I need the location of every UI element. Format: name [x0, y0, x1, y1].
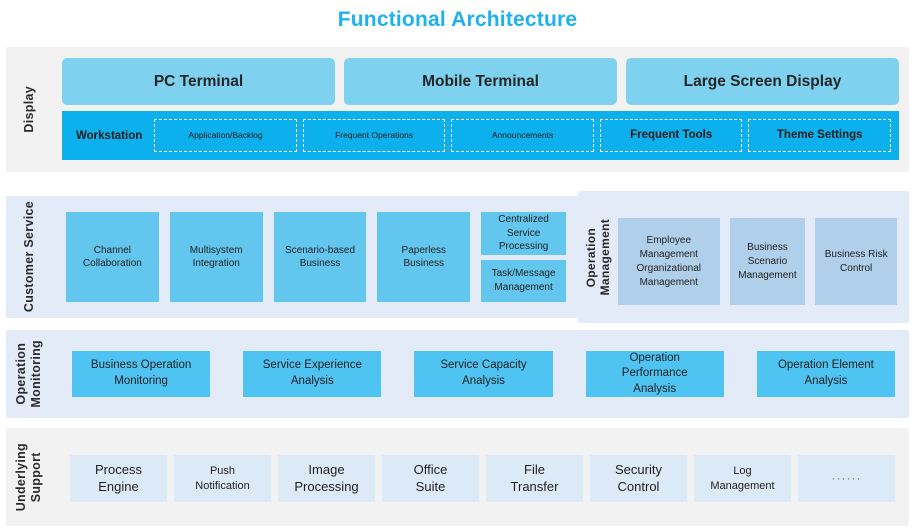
- functional-architecture-diagram: Functional Architecture Display PC Termi…: [0, 0, 915, 532]
- terminal-row: PC Terminal Mobile Terminal Large Screen…: [62, 58, 899, 105]
- layer-operation-monitoring-label-text: Operation Monitoring: [14, 340, 44, 408]
- workstation-title: Workstation: [70, 130, 148, 142]
- sup-box-image-processing[interactable]: Image Processing: [278, 455, 375, 502]
- layer-operation-management: Operation Management Employee Management…: [578, 191, 909, 323]
- layer-operation-management-label: Operation Management: [578, 191, 618, 323]
- layer-display-label: Display: [6, 47, 52, 172]
- sup-box-process-engine[interactable]: Process Engine: [70, 455, 167, 502]
- layer-underlying-support: Underlying Support Process Engine Push N…: [6, 428, 909, 526]
- layer-underlying-support-content: Process Engine Push Notification Image P…: [52, 428, 909, 526]
- terminal-large-screen[interactable]: Large Screen Display: [626, 58, 899, 105]
- cs-stacked-group: Centralized Service Processing Task/Mess…: [481, 212, 566, 302]
- terminal-mobile[interactable]: Mobile Terminal: [344, 58, 617, 105]
- terminal-large-screen-label: Large Screen Display: [684, 73, 842, 91]
- layer-display: Display PC Terminal Mobile Terminal Larg…: [6, 47, 909, 172]
- cs-box-paperless-business[interactable]: Paperless Business: [377, 212, 470, 302]
- om-box-business-scenario-management[interactable]: Business Scenario Management: [730, 218, 806, 305]
- cs-box-task-message-management[interactable]: Task/Message Management: [481, 260, 566, 303]
- cs-box-multisystem-integration[interactable]: Multisystem Integration: [170, 212, 263, 302]
- workstation-chip-frequent-tools[interactable]: Frequent Tools: [600, 119, 743, 152]
- cs-box-centralized-service-processing[interactable]: Centralized Service Processing: [481, 212, 566, 255]
- layer-operation-management-label-text: Operation Management: [584, 219, 612, 295]
- layer-display-label-text: Display: [22, 86, 37, 133]
- customer-service-row: Channel Collaboration Multisystem Integr…: [66, 212, 566, 302]
- sup-box-office-suite[interactable]: Office Suite: [382, 455, 479, 502]
- underlying-support-row: Process Engine Push Notification Image P…: [70, 455, 895, 502]
- sup-box-log-management[interactable]: Log Management: [694, 455, 791, 502]
- layer-underlying-support-label: Underlying Support: [6, 428, 52, 526]
- layer-operation-monitoring-label: Operation Monitoring: [6, 330, 52, 418]
- layer-customer-service-content: Channel Collaboration Multisystem Integr…: [52, 196, 578, 318]
- om-box-business-risk-control[interactable]: Business Risk Control: [815, 218, 897, 305]
- sup-box-more-ellipsis: ······: [798, 455, 895, 502]
- layer-operation-monitoring: Operation Monitoring Business Operation …: [6, 330, 909, 418]
- layer-underlying-support-label-text: Underlying Support: [14, 443, 44, 511]
- mon-box-service-capacity-analysis[interactable]: Service Capacity Analysis: [414, 351, 552, 397]
- mon-box-business-operation-monitoring[interactable]: Business Operation Monitoring: [72, 351, 210, 397]
- sup-box-push-notification[interactable]: Push Notification: [174, 455, 271, 502]
- sup-box-security-control[interactable]: Security Control: [590, 455, 687, 502]
- operation-monitoring-row: Business Operation Monitoring Service Ex…: [72, 351, 895, 397]
- layer-operation-monitoring-content: Business Operation Monitoring Service Ex…: [52, 330, 909, 418]
- workstation-chip-frequent-operations[interactable]: Frequent Operations: [303, 119, 446, 152]
- layer-customer-service-label-text: Customer Service: [22, 201, 37, 312]
- page-title: Functional Architecture: [0, 8, 915, 32]
- layer-customer-service-label: Customer Service: [6, 196, 52, 318]
- workstation-chip-theme-settings[interactable]: Theme Settings: [748, 119, 891, 152]
- terminal-pc-label: PC Terminal: [154, 73, 243, 91]
- cs-box-channel-collaboration[interactable]: Channel Collaboration: [66, 212, 159, 302]
- om-box-employee-management[interactable]: Employee Management Organizational Manag…: [618, 218, 720, 305]
- operation-management-row: Employee Management Organizational Manag…: [618, 218, 897, 305]
- layer-display-content: PC Terminal Mobile Terminal Large Screen…: [52, 47, 909, 172]
- layer-customer-service: Customer Service Channel Collaboration M…: [6, 196, 578, 318]
- terminal-mobile-label: Mobile Terminal: [422, 73, 539, 91]
- workstation-strip: Workstation Application/Backlog Frequent…: [62, 111, 899, 160]
- cs-box-scenario-based-business[interactable]: Scenario-based Business: [274, 212, 367, 302]
- workstation-chip-application-backlog[interactable]: Application/Backlog: [154, 119, 297, 152]
- sup-box-file-transfer[interactable]: File Transfer: [486, 455, 583, 502]
- mon-box-service-experience-analysis[interactable]: Service Experience Analysis: [243, 351, 381, 397]
- terminal-pc[interactable]: PC Terminal: [62, 58, 335, 105]
- workstation-chip-announcements[interactable]: Announcements: [451, 119, 594, 152]
- mon-box-operation-performance-analysis[interactable]: Operation Performance Analysis: [586, 351, 724, 397]
- mon-box-operation-element-analysis[interactable]: Operation Element Analysis: [757, 351, 895, 397]
